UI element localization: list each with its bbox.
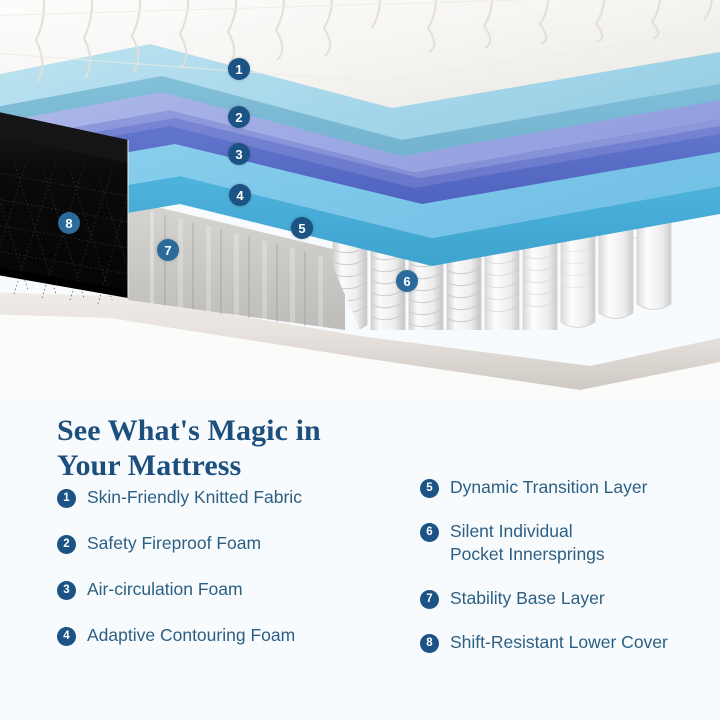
list-item[interactable]: 1 Skin-Friendly Knitted Fabric	[57, 486, 397, 509]
list-item-badge-5: 5	[420, 479, 439, 498]
layer-lower-cover	[0, 108, 128, 304]
diagram-badge-6[interactable]: 6	[396, 270, 418, 292]
diagram-badge-4[interactable]: 4	[229, 184, 251, 206]
list-item-label: Skin-Friendly Knitted Fabric	[87, 486, 302, 509]
list-item-badge-7: 7	[420, 590, 439, 609]
list-item[interactable]: 5 Dynamic Transition Layer	[420, 476, 710, 499]
legend-column-left: 1 Skin-Friendly Knitted Fabric 2 Safety …	[57, 486, 397, 670]
page-title: See What's Magic in Your Mattress	[57, 413, 387, 484]
list-item[interactable]: 8 Shift-Resistant Lower Cover	[420, 631, 710, 654]
list-item[interactable]: 6 Silent Individual Pocket Innersprings	[420, 520, 710, 566]
mattress-diagram: 1 2 3 4 5 6 7 8	[0, 0, 720, 400]
mattress-illustration	[0, 0, 720, 400]
diagram-badge-1[interactable]: 1	[228, 58, 250, 80]
list-item-badge-3: 3	[57, 581, 76, 600]
list-item-label: Air-circulation Foam	[87, 578, 243, 601]
legend-section: See What's Magic in Your Mattress 1 Skin…	[0, 398, 720, 720]
list-item-label: Stability Base Layer	[450, 587, 605, 610]
list-item[interactable]: 7 Stability Base Layer	[420, 587, 710, 610]
page-title-line-1: See What's Magic in	[57, 413, 387, 448]
list-item[interactable]: 3 Air-circulation Foam	[57, 578, 397, 601]
legend-column-right: 5 Dynamic Transition Layer 6 Silent Indi…	[420, 476, 710, 675]
diagram-badge-7[interactable]: 7	[157, 239, 179, 261]
diagram-badge-3[interactable]: 3	[228, 143, 250, 165]
list-item-label: Dynamic Transition Layer	[450, 476, 647, 499]
list-item[interactable]: 4 Adaptive Contouring Foam	[57, 624, 397, 647]
list-item-label: Shift-Resistant Lower Cover	[450, 631, 668, 654]
list-item-label: Adaptive Contouring Foam	[87, 624, 295, 647]
list-item-badge-2: 2	[57, 535, 76, 554]
diagram-badge-5[interactable]: 5	[291, 217, 313, 239]
list-item-badge-1: 1	[57, 489, 76, 508]
list-item-badge-6: 6	[420, 523, 439, 542]
list-item-badge-4: 4	[57, 627, 76, 646]
list-item-badge-8: 8	[420, 634, 439, 653]
list-item[interactable]: 2 Safety Fireproof Foam	[57, 532, 397, 555]
list-item-label: Silent Individual Pocket Innersprings	[450, 520, 605, 566]
page-title-line-2: Your Mattress	[57, 448, 387, 483]
list-item-label: Safety Fireproof Foam	[87, 532, 261, 555]
diagram-badge-2[interactable]: 2	[228, 106, 250, 128]
diagram-badge-8[interactable]: 8	[58, 212, 80, 234]
